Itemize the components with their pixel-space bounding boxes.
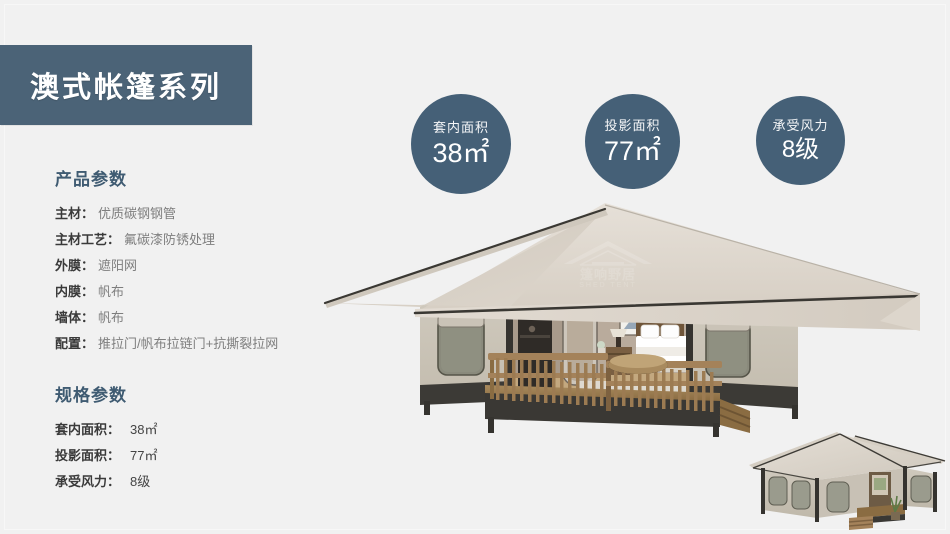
tent-thumbnail-illustration [745, 418, 950, 534]
spec-value: 氟碳漆防锈处理 [124, 232, 215, 247]
tent-roof [325, 203, 920, 331]
section-heading-product: 产品参数 [55, 165, 352, 190]
stat-label: 套内面积 [433, 121, 489, 134]
stat-label: 承受风力 [772, 119, 828, 132]
stat-circle-interior-area: 套内面积 38㎡ [411, 94, 511, 194]
spec-row: 墙体：帆布 [55, 305, 352, 331]
spec-value: 推拉门/帆布拉链门+抗撕裂拉网 [98, 336, 278, 351]
spec-column: 产品参数 主材：优质碳钢钢管 主材工艺：氟碳漆防锈处理 外膜：遮阳网 内膜：帆布… [52, 165, 352, 495]
section-heading-dimensions: 规格参数 [55, 381, 352, 406]
spec-value: 帆布 [98, 284, 124, 299]
spec-label: 墙体： [55, 310, 94, 325]
stat-circle-projected-area: 投影面积 77㎡ [585, 94, 680, 189]
spec-section-dimensions: 规格参数 套内面积：38㎡ 投影面积：77㎡ 承受风力：8级 [52, 381, 352, 495]
stat-value: 8级 [782, 138, 819, 162]
spec-label: 配置： [55, 336, 94, 351]
spec-label: 套内面积： [55, 422, 120, 437]
tent-main-illustration [320, 195, 920, 455]
stat-value: 38㎡ [432, 140, 489, 167]
stat-circle-wind-resistance: 承受风力 8级 [756, 96, 845, 185]
spec-row: 投影面积：77㎡ [55, 443, 352, 469]
spec-label: 投影面积： [55, 448, 120, 463]
spec-value: 帆布 [98, 310, 124, 325]
spec-row: 承受风力：8级 [55, 469, 352, 495]
slide-canvas: 澳式帐篷系列 产品参数 主材：优质碳钢钢管 主材工艺：氟碳漆防锈处理 外膜：遮阳… [0, 0, 950, 534]
stat-value: 77㎡ [604, 138, 661, 165]
spec-value: 8级 [130, 474, 150, 489]
title-banner: 澳式帐篷系列 [0, 45, 252, 125]
spec-value: 优质碳钢钢管 [98, 206, 176, 221]
spec-row: 配置：推拉门/帆布拉链门+抗撕裂拉网 [55, 331, 352, 357]
spec-row: 主材：优质碳钢钢管 [55, 201, 352, 227]
spec-label: 内膜： [55, 284, 94, 299]
spec-row: 内膜：帆布 [55, 279, 352, 305]
page-title: 澳式帐篷系列 [30, 64, 222, 106]
spec-label: 主材： [55, 206, 94, 221]
spec-section-product: 产品参数 主材：优质碳钢钢管 主材工艺：氟碳漆防锈处理 外膜：遮阳网 内膜：帆布… [52, 165, 352, 357]
spec-row: 外膜：遮阳网 [55, 253, 352, 279]
spec-label: 主材工艺： [55, 232, 120, 247]
spec-label: 外膜： [55, 258, 94, 273]
spec-value: 38㎡ [130, 422, 157, 437]
spec-label: 承受风力： [55, 474, 120, 489]
spec-value: 遮阳网 [98, 258, 137, 273]
spec-value: 77㎡ [130, 448, 157, 463]
spec-row: 套内面积：38㎡ [55, 417, 352, 443]
spec-row: 主材工艺：氟碳漆防锈处理 [55, 227, 352, 253]
stat-label: 投影面积 [604, 119, 660, 132]
